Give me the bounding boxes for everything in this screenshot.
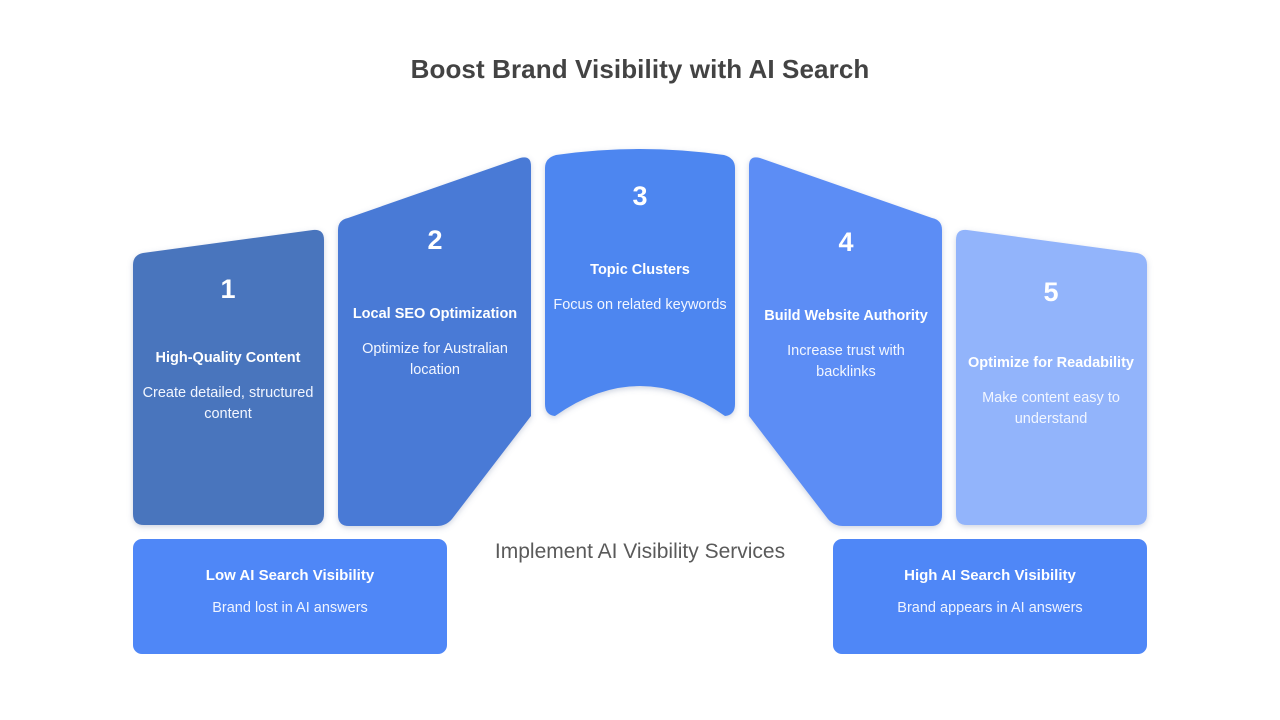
step-panel-4[interactable] (749, 157, 942, 526)
low-visibility-title: Low AI Search Visibility (133, 566, 447, 586)
high-visibility-title: High AI Search Visibility (833, 566, 1147, 586)
high-visibility-description: Brand appears in AI answers (833, 599, 1147, 618)
step-panel-5[interactable] (956, 230, 1147, 525)
step-panel-1[interactable] (133, 230, 324, 525)
center-caption: Implement AI Visibility Services (470, 538, 810, 567)
infographic-canvas: Boost Brand Visibility with AI Search 1 … (0, 0, 1280, 720)
low-visibility-box[interactable]: Low AI Search Visibility Brand lost in A… (133, 539, 447, 654)
high-visibility-box[interactable]: High AI Search Visibility Brand appears … (833, 539, 1147, 654)
low-visibility-description: Brand lost in AI answers (133, 599, 447, 618)
step-panel-2[interactable] (338, 157, 531, 526)
step-panel-3[interactable] (545, 149, 735, 416)
